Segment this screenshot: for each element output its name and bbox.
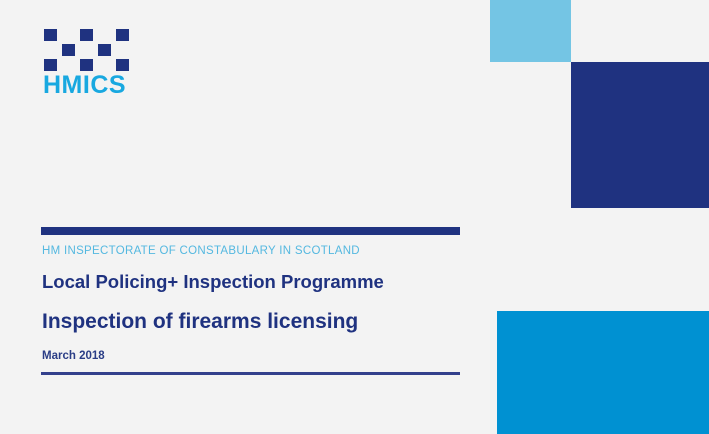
decorative-block-light-blue <box>490 0 571 62</box>
programme-title: Local Policing+ Inspection Programme <box>42 271 384 293</box>
logo-square <box>80 29 93 41</box>
logo-square <box>44 59 57 71</box>
decorative-block-cyan <box>497 311 709 434</box>
logo-square <box>98 44 111 56</box>
decorative-block-navy <box>571 62 709 208</box>
publication-date: March 2018 <box>42 350 105 362</box>
report-cover-page: HMICS HM INSPECTORATE OF CONSTABULARY IN… <box>0 0 709 434</box>
organisation-name-label: HM INSPECTORATE OF CONSTABULARY IN SCOTL… <box>42 245 360 257</box>
hmics-logo-icon <box>44 29 114 71</box>
logo-square <box>116 59 129 71</box>
title-rule-bottom <box>41 372 460 375</box>
hmics-wordmark: HMICS <box>43 73 126 98</box>
page-title: Inspection of firearms licensing <box>42 310 358 334</box>
logo-square <box>44 29 57 41</box>
logo-square <box>116 29 129 41</box>
logo-square <box>80 59 93 71</box>
title-rule-top <box>41 227 460 235</box>
logo-square <box>62 44 75 56</box>
